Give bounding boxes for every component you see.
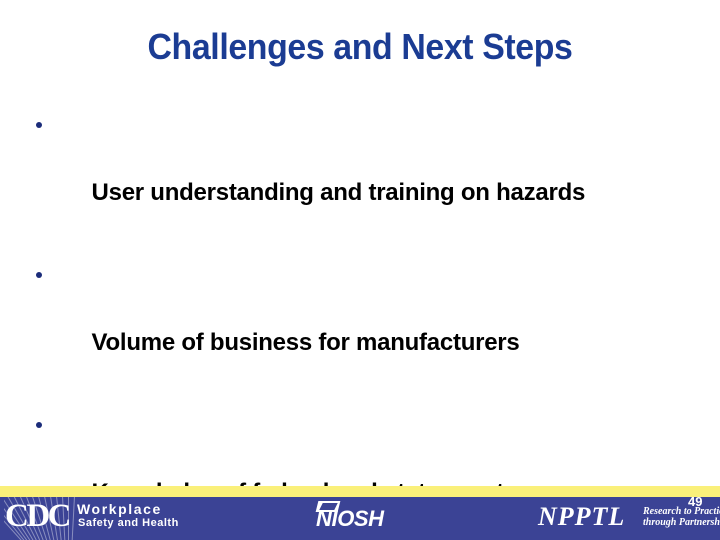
list-item: Volume of business for manufacturers [30, 258, 698, 394]
slide-footer: CDC Workplace Safety and Health NIOSH NP… [0, 497, 720, 540]
npptl-tagline-line2: through Partnerships [643, 517, 720, 528]
cdc-tagline-line1: Workplace [77, 502, 162, 517]
list-item-label: Volume of business for manufacturers [92, 329, 520, 356]
list-item-label: User understanding and training on hazar… [92, 179, 586, 206]
npptl-tagline: Research to Practice through Partnership… [643, 506, 720, 528]
page-title: Challenges and Next Steps [22, 26, 699, 68]
bullet-dot-icon [36, 272, 42, 278]
npptl-tagline-line1: Research to Practice [643, 506, 720, 517]
list-item: User understanding and training on hazar… [30, 108, 698, 244]
niosh-logo: NIOSH [316, 501, 414, 533]
cdc-acronym: CDC [5, 498, 69, 535]
presentation-slide: Challenges and Next Steps User understan… [0, 0, 720, 540]
npptl-wordmark: NPPTL [538, 503, 625, 531]
cdc-tagline-line2: Safety and Health [78, 517, 179, 529]
niosh-wordmark: NIOSH [316, 507, 384, 531]
footer-accent-bar [0, 486, 720, 497]
bullet-dot-icon [36, 422, 42, 428]
npptl-logo: NPPTL Research to Practice through Partn… [538, 502, 703, 535]
bullet-list: User understanding and training on hazar… [30, 108, 698, 540]
slide-number: 49 [688, 495, 702, 509]
cdc-sunburst-ray [71, 497, 76, 540]
cdc-logo: CDC Workplace Safety and Health [4, 497, 204, 540]
bullet-dot-icon [36, 122, 42, 128]
